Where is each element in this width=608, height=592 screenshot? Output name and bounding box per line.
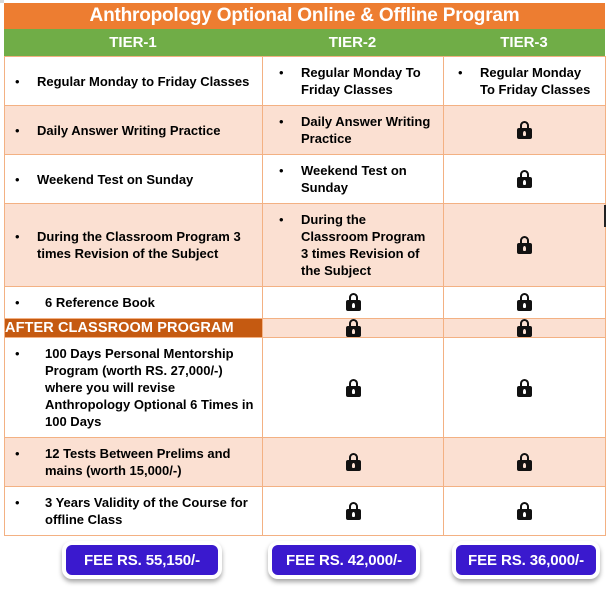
table-row: • 100 Days Personal Mentorship Program (… [5, 338, 606, 438]
table-row: • 12 Tests Between Prelims and mains (wo… [5, 438, 606, 487]
locked-cell-tier3 [444, 106, 606, 155]
tier-header-2: TIER-2 [262, 29, 443, 56]
locked-cell-tier3 [444, 155, 606, 204]
lock-icon [517, 319, 532, 337]
feature-text: Regular Monday To Friday Classes [480, 64, 597, 98]
bullet-icon: • [279, 211, 301, 228]
bullet-icon: • [15, 171, 37, 188]
feature-cell-tier1: • 100 Days Personal Mentorship Program (… [5, 338, 263, 438]
locked-cell-tier2 [263, 319, 444, 338]
locked-cell-tier3 [444, 204, 606, 287]
locked-cell-tier3 [444, 438, 606, 487]
locked-cell-tier2 [263, 338, 444, 438]
tier-header-1: TIER-1 [4, 29, 262, 56]
feature-cell-tier1: • 3 Years Validity of the Course for off… [5, 487, 263, 536]
bullet-icon: • [15, 73, 37, 90]
feature-cell-tier1: • During the Classroom Program 3 times R… [5, 204, 263, 287]
lock-icon [517, 170, 532, 188]
table-row: AFTER CLASSROOM PROGRAM [5, 319, 606, 338]
feature-text: During the Classroom Program 3 times Rev… [301, 211, 435, 279]
lock-icon [346, 379, 361, 397]
table-row: • Weekend Test on Sunday • Weekend Test … [5, 155, 606, 204]
lock-icon [346, 319, 361, 337]
feature-text: 12 Tests Between Prelims and mains (wort… [45, 445, 254, 479]
bullet-icon: • [15, 294, 45, 311]
features-table-body: • Regular Monday to Friday Classes • Reg… [5, 57, 606, 536]
bullet-icon: • [279, 64, 301, 81]
lock-icon [517, 236, 532, 254]
features-table: • Regular Monday to Friday Classes • Reg… [4, 56, 606, 536]
feature-cell-tier3: • Regular Monday To Friday Classes [444, 57, 606, 106]
locked-cell-tier3 [444, 338, 606, 438]
fee-button-tier2[interactable]: FEE RS. 42,000/- [268, 541, 420, 579]
bullet-icon: • [15, 345, 45, 362]
feature-cell-tier2: • Weekend Test on Sunday [263, 155, 444, 204]
feature-text: Daily Answer Writing Practice [301, 113, 435, 147]
table-row: • 3 Years Validity of the Course for off… [5, 487, 606, 536]
fee-button-tier1[interactable]: FEE RS. 55,150/- [62, 541, 222, 579]
table-row: • 6 Reference Book [5, 287, 606, 319]
lock-icon [346, 293, 361, 311]
fee-buttons-row: FEE RS. 55,150/- FEE RS. 42,000/- FEE RS… [0, 537, 608, 592]
locked-cell-tier3 [444, 487, 606, 536]
bullet-icon: • [279, 162, 301, 179]
tier-header-row: TIER-1 TIER-2 TIER-3 [4, 29, 605, 56]
feature-cell-tier1: • Weekend Test on Sunday [5, 155, 263, 204]
table-row: • Regular Monday to Friday Classes • Reg… [5, 57, 606, 106]
bullet-icon: • [15, 122, 37, 139]
feature-text: Regular Monday to Friday Classes [37, 73, 254, 90]
edge-artifact [604, 205, 606, 227]
lock-icon [517, 293, 532, 311]
feature-text: During the Classroom Program 3 times Rev… [37, 228, 254, 262]
locked-cell-tier2 [263, 287, 444, 319]
feature-text: Daily Answer Writing Practice [37, 122, 254, 139]
locked-cell-tier3 [444, 287, 606, 319]
bullet-icon: • [15, 228, 37, 245]
fee-button-tier3[interactable]: FEE RS. 36,000/- [452, 541, 600, 579]
bullet-icon: • [279, 113, 301, 130]
lock-icon [517, 502, 532, 520]
bullet-icon: • [15, 445, 45, 462]
locked-cell-tier2 [263, 438, 444, 487]
lock-icon [346, 453, 361, 471]
bullet-icon: • [458, 64, 480, 81]
feature-text: 100 Days Personal Mentorship Program (wo… [45, 345, 254, 430]
feature-cell-tier1: • Regular Monday to Friday Classes [5, 57, 263, 106]
tier-header-3: TIER-3 [443, 29, 605, 56]
feature-text: 3 Years Validity of the Course for offli… [45, 494, 254, 528]
feature-text: 6 Reference Book [45, 294, 254, 311]
locked-cell-tier2 [263, 487, 444, 536]
program-comparison-table: Anthropology Optional Online & Offline P… [0, 0, 608, 592]
table-row: • Daily Answer Writing Practice • Daily … [5, 106, 606, 155]
feature-cell-tier1: • 6 Reference Book [5, 287, 263, 319]
feature-cell-tier1: • 12 Tests Between Prelims and mains (wo… [5, 438, 263, 487]
page-title: Anthropology Optional Online & Offline P… [4, 3, 605, 29]
after-classroom-banner: AFTER CLASSROOM PROGRAM [5, 319, 263, 338]
lock-icon [346, 502, 361, 520]
feature-text: Weekend Test on Sunday [37, 171, 254, 188]
lock-icon [517, 379, 532, 397]
feature-cell-tier2: • Daily Answer Writing Practice [263, 106, 444, 155]
lock-icon [517, 453, 532, 471]
table-row: • During the Classroom Program 3 times R… [5, 204, 606, 287]
feature-cell-tier2: • During the Classroom Program 3 times R… [263, 204, 444, 287]
bullet-icon: • [15, 494, 45, 511]
lock-icon [517, 121, 532, 139]
feature-text: Regular Monday To Friday Classes [301, 64, 435, 98]
feature-cell-tier2: • Regular Monday To Friday Classes [263, 57, 444, 106]
feature-cell-tier1: • Daily Answer Writing Practice [5, 106, 263, 155]
locked-cell-tier3 [444, 319, 606, 338]
feature-text: Weekend Test on Sunday [301, 162, 435, 196]
